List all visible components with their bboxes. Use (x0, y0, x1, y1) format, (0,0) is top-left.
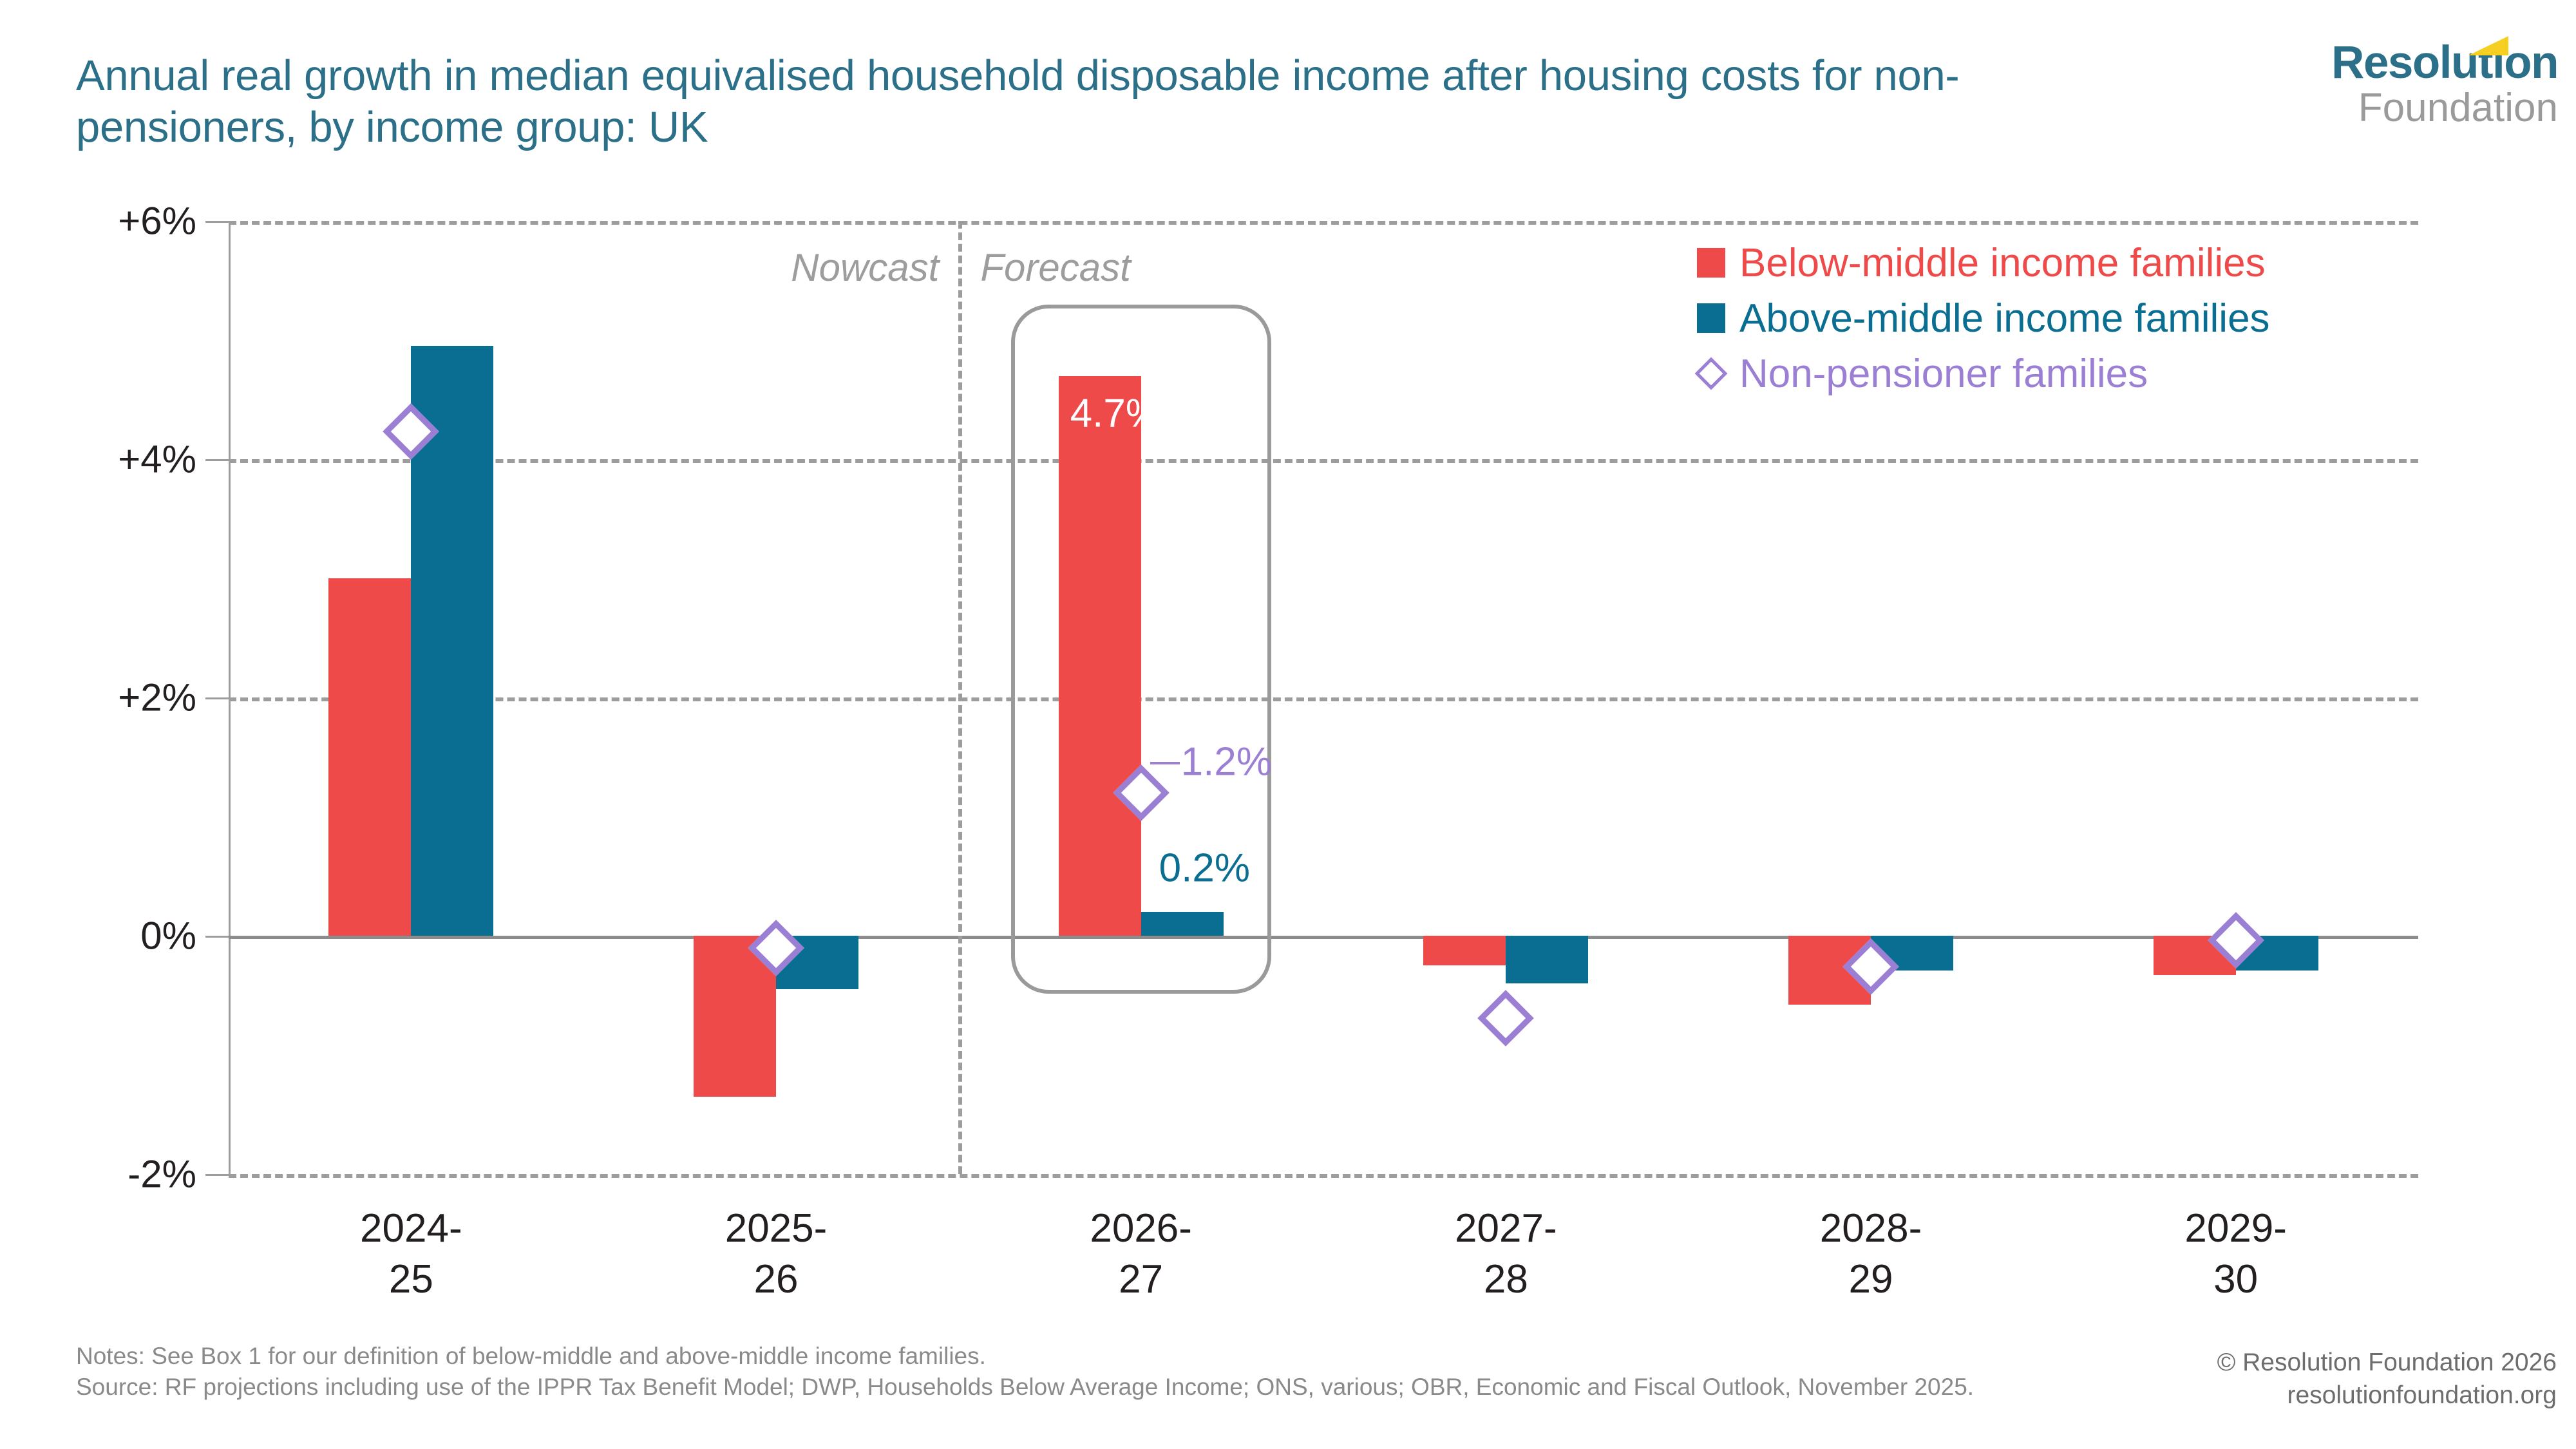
legend-label: Non-pensioner families (1739, 351, 2148, 397)
legend-item-1[interactable]: Above-middle income families (1697, 290, 2270, 346)
logo-main-text: Resolution (2331, 37, 2558, 88)
y-axis-tick (205, 1174, 229, 1176)
x-axis-label-line: 2028- (1820, 1203, 1922, 1254)
footer-notes: Notes: See Box 1 for our definition of b… (76, 1341, 1976, 1403)
x-axis-label-line: 2025- (725, 1203, 828, 1254)
y-axis-tick (205, 936, 229, 938)
legend-label: Above-middle income families (1739, 296, 2270, 341)
resolution-foundation-logo: Resolution Foundation (2331, 40, 2558, 129)
y-axis-tick (205, 697, 229, 699)
gridline (229, 459, 2418, 463)
y-axis-label: -2% (29, 1152, 196, 1197)
gridline (229, 697, 2418, 701)
legend-item-0[interactable]: Below-middle income families (1697, 235, 2270, 290)
marker-non-pensioner (1477, 990, 1534, 1046)
x-axis-label-line: 2026- (1090, 1203, 1192, 1254)
x-axis-label-line: 30 (2184, 1254, 2287, 1305)
zero-axis-line (229, 936, 2418, 939)
x-axis-label-line: 2027- (1455, 1203, 1557, 1254)
legend-swatch-icon (1697, 303, 1725, 333)
y-axis-label: +6% (29, 199, 196, 243)
phase-label-nowcast: Nowcast (791, 245, 939, 290)
x-axis-label-2029-30: 2029-30 (2184, 1203, 2287, 1305)
legend-swatch-icon (1697, 248, 1725, 278)
x-axis-label-line: 2024- (360, 1203, 462, 1254)
forecast-divider-line (958, 221, 962, 1174)
footer-credit: © Resolution Foundation 2026 resolutionf… (2217, 1346, 2557, 1412)
y-axis-tick (205, 459, 229, 461)
x-axis-label-line: 27 (1090, 1254, 1192, 1305)
x-axis-label-line: 25 (360, 1254, 462, 1305)
x-axis-label-line: 29 (1820, 1254, 1922, 1305)
logo-wordmark-resolution: Resolution (2331, 40, 2558, 86)
x-axis-label-2027-28: 2027-28 (1455, 1203, 1557, 1305)
legend-item-2[interactable]: Non-pensioner families (1697, 346, 2270, 401)
logo-wordmark-foundation: Foundation (2331, 87, 2558, 129)
x-axis-label-2025-26: 2025-26 (725, 1203, 828, 1305)
x-axis-label-line: 28 (1455, 1254, 1557, 1305)
y-axis-label: +2% (29, 676, 196, 720)
page-title: Annual real growth in median equivalised… (76, 50, 2124, 154)
x-axis-label-line: 2029- (2184, 1203, 2287, 1254)
leader-line-non-pensioner (1150, 762, 1180, 764)
x-axis-label-2024-25: 2024-25 (360, 1203, 462, 1305)
gridline (229, 1174, 2418, 1178)
data-label-above-middle: 0.2% (1159, 846, 1250, 891)
data-label-non-pensioner: 1.2% (1181, 739, 1272, 785)
y-axis-tick (205, 221, 229, 223)
source-line: Source: RF projections including use of … (76, 1372, 1976, 1403)
legend-label: Below-middle income families (1739, 240, 2266, 286)
legend-diamond-icon (1695, 357, 1728, 390)
y-axis-label: +4% (29, 437, 196, 482)
x-axis-label-line: 26 (725, 1254, 828, 1305)
notes-line: Notes: See Box 1 for our definition of b… (76, 1341, 1976, 1372)
x-axis-label-2028-29: 2028-29 (1820, 1203, 1922, 1305)
website-line: resolutionfoundation.org (2217, 1379, 2557, 1412)
bar-above-middle (1506, 936, 1588, 983)
phase-label-forecast: Forecast (980, 245, 1130, 290)
gridline (229, 221, 2418, 225)
bar-below-middle (328, 578, 411, 936)
data-label-below-middle: 4.7% (1070, 390, 1161, 436)
chart-legend: Below-middle income familiesAbove-middle… (1697, 235, 2270, 401)
copyright-line: © Resolution Foundation 2026 (2217, 1346, 2557, 1379)
x-axis-label-2026-27: 2026-27 (1090, 1203, 1192, 1305)
y-axis-label: 0% (29, 914, 196, 958)
bar-below-middle (1423, 936, 1506, 965)
